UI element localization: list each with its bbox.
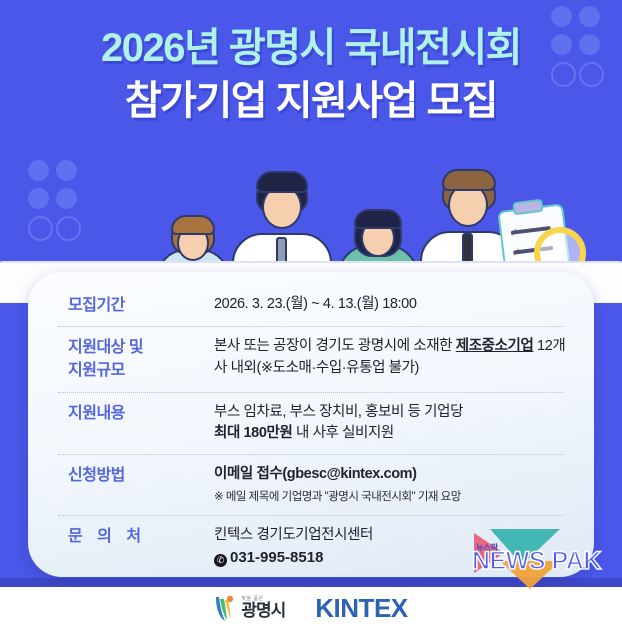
row-divider-4: [58, 515, 564, 516]
gwangmyeong-logo-mark: [214, 594, 236, 622]
kintex-logo: KINTEX: [315, 593, 407, 624]
value-support-line-2: 최대 180만원 내 사후 실비지원: [214, 423, 568, 445]
value-target-strong-2: 중소기업: [482, 338, 534, 354]
value-target-lead: 본사 또는 공장이 경기도 광명시에 소재한: [214, 338, 456, 354]
value-apply: 이메일 접수(gbesc@kintex.com) ※ 메일 제목에 기업명과 "…: [214, 464, 568, 506]
value-support-line-1: 부스 임차료, 부스 장치비, 홍보비 등 기업당: [214, 402, 568, 424]
row-divider-3: [58, 454, 564, 455]
value-support: 부스 임차료, 부스 장치비, 홍보비 등 기업당 최대 180만원 내 사후 …: [214, 402, 568, 446]
gwangmyeong-logo-text: 빛을 품은 광명시: [241, 597, 285, 619]
info-row-support: 지원내용 부스 임차료, 부스 장치비, 홍보비 등 기업당 최대 180만원 …: [54, 402, 568, 446]
label-contact: 문 의 처: [54, 525, 214, 548]
poster-root: 2026년 광명시 국내전시회 참가기업 지원사업 모집: [0, 0, 622, 629]
phone-icon: ✆: [214, 554, 227, 567]
row-divider-2: [58, 392, 564, 393]
gwangmyeong-name: 광명시: [241, 602, 285, 619]
value-apply-email: 이메일 접수(gbesc@kintex.com): [214, 464, 568, 486]
gwangmyeong-city-logo: 빛을 품은 광명시: [214, 594, 285, 622]
watermark-text: NEWS PAK: [472, 547, 601, 576]
headline-line-2: 참가기업 지원사업 모집: [0, 75, 622, 128]
person-3-fringe: [354, 209, 402, 229]
poster-footer: 빛을 품은 광명시 KINTEX: [0, 587, 622, 629]
person-4-fringe: [442, 169, 496, 191]
clipboard-clip: [512, 199, 543, 216]
row-divider-1: [58, 326, 564, 327]
headline-line-1: 2026년 광명시 국내전시회: [0, 22, 622, 75]
info-row-apply: 신청방법 이메일 접수(gbesc@kintex.com) ※ 메일 제목에 기…: [54, 464, 568, 506]
value-contact-phone: 031-995-8518: [230, 549, 323, 566]
info-row-period: 모집기간 2026. 3. 23.(월) ~ 4. 13.(월) 18:00: [54, 290, 568, 317]
value-target: 본사 또는 공장이 경기도 광명시에 소재한 제조중소기업 12개사 내외(※도…: [214, 336, 568, 380]
value-apply-note: ※ 메일 제목에 기업명과 "광명시 국내전시회" 기재 요망: [214, 489, 568, 506]
value-support-amount: 최대 180만원: [214, 425, 292, 441]
label-support: 지원내용: [54, 402, 214, 425]
label-target-line-1: 지원대상 및: [68, 336, 214, 359]
label-period: 모집기간: [54, 294, 214, 317]
value-target-strong-1: 제조: [456, 338, 482, 354]
person-2-fringe: [256, 171, 308, 193]
value-period: 2026. 3. 23.(월) ~ 4. 13.(월) 18:00: [214, 294, 568, 316]
person-1-bangs: [171, 215, 215, 235]
decor-dots-right: [551, 6, 600, 87]
poster-headline: 2026년 광명시 국내전시회 참가기업 지원사업 모집: [0, 22, 622, 128]
label-target: 지원대상 및 지원규모: [54, 336, 214, 382]
info-row-target: 지원대상 및 지원규모 본사 또는 공장이 경기도 광명시에 소재한 제조중소기…: [54, 336, 568, 382]
value-support-tail: 내 사후 실비지원: [292, 425, 393, 441]
news-pak-watermark: 뉴스팍 NEWS PAK: [464, 525, 616, 593]
label-apply: 신청방법: [54, 464, 214, 487]
label-target-line-2: 지원규모: [68, 359, 214, 382]
